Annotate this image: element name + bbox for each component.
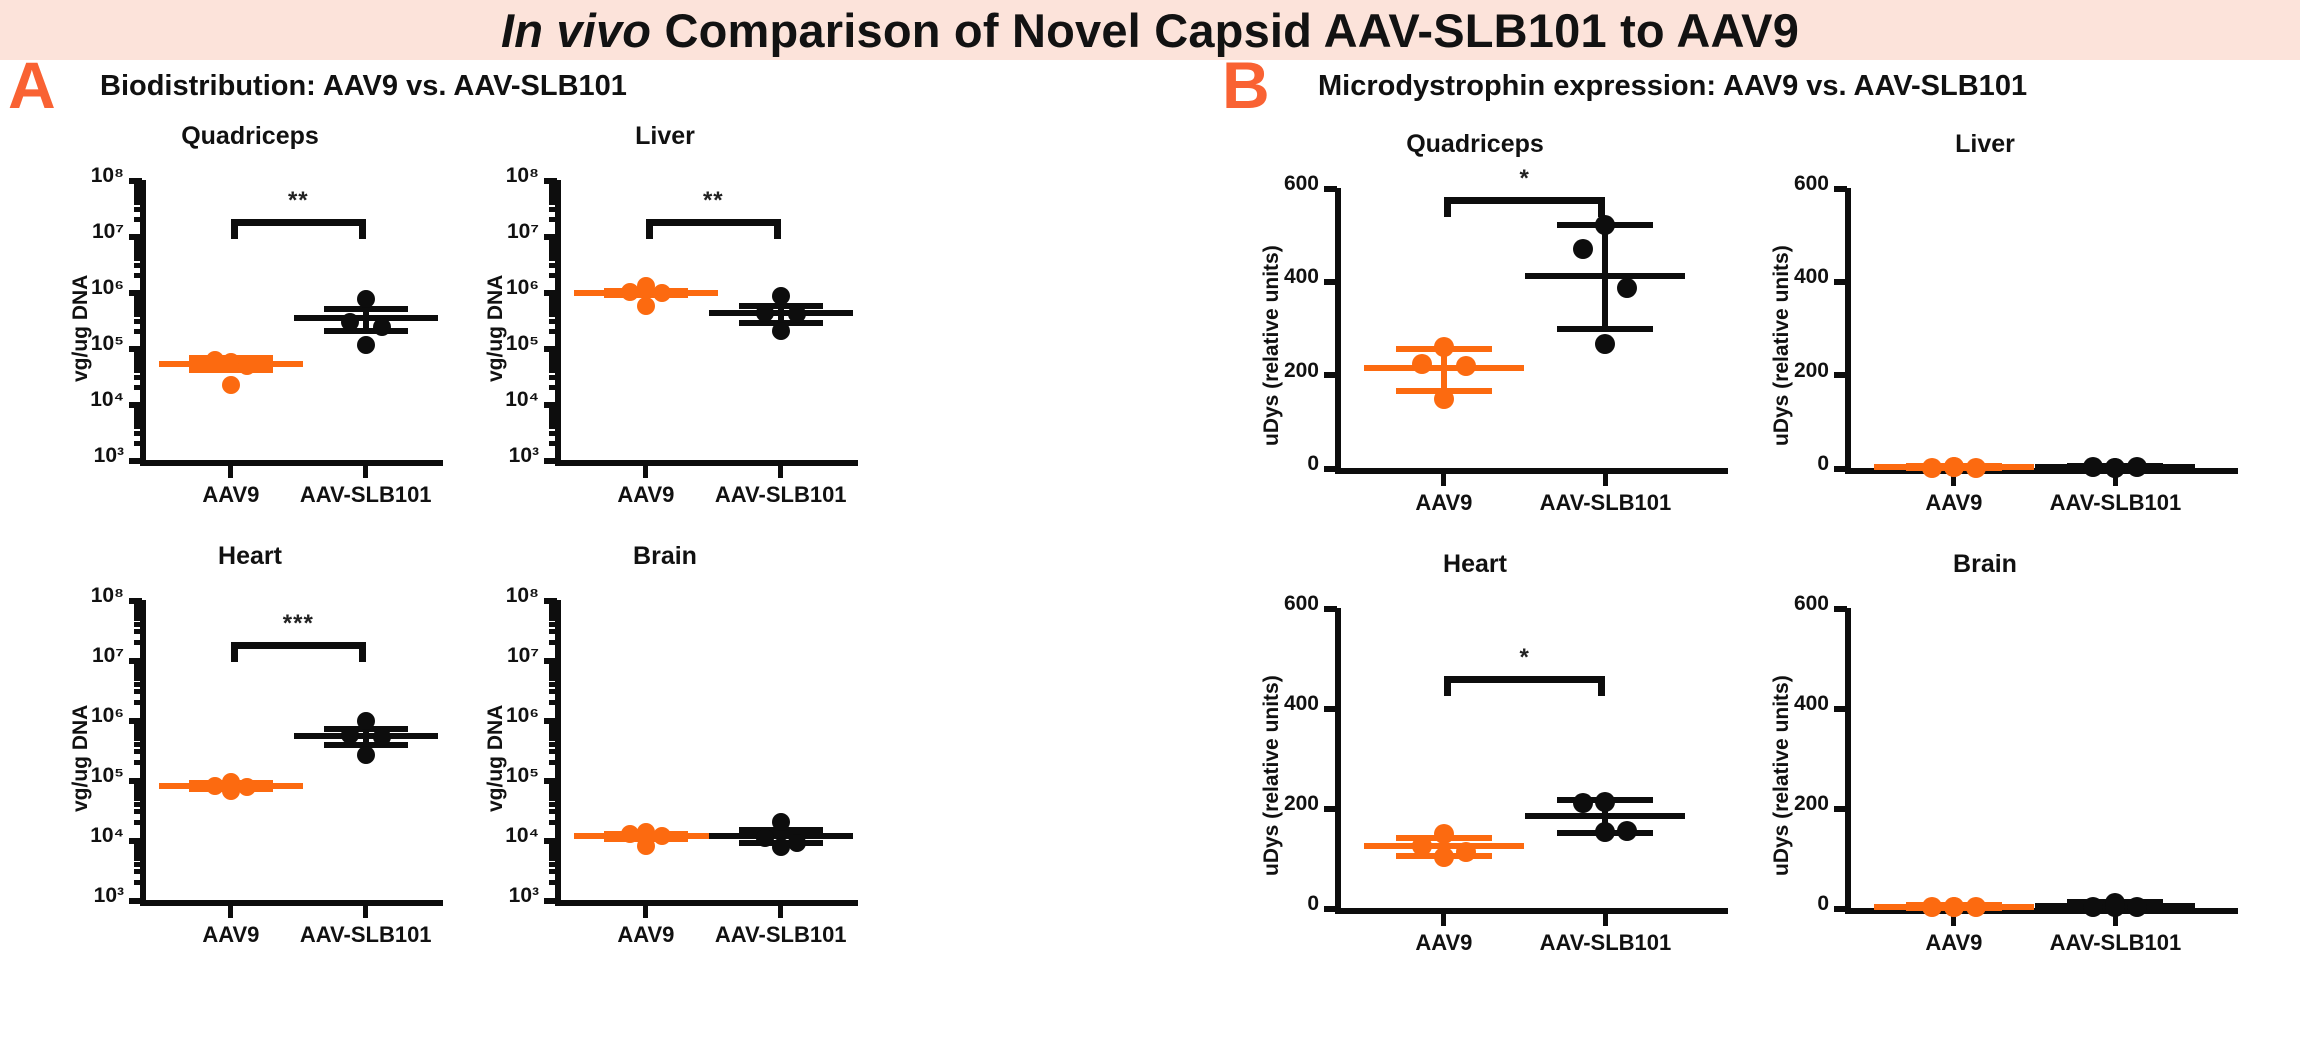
y-tick-label-a-brain-3: 10⁶ — [450, 704, 539, 728]
x-tick-label-b-brain-1: AAV-SLB101 — [2005, 930, 2225, 956]
data-point-b-liver-0-2 — [1966, 458, 1986, 478]
data-point-b-brain-1-3 — [2105, 897, 2125, 917]
data-point-a-brain-1-3 — [772, 838, 790, 856]
x-tick-label-a-brain-1: AAV-SLB101 — [671, 922, 891, 948]
plot-a-quadriceps: Quadricepsvg/ug DNA10³10⁴10⁵10⁶10⁷10⁸AAV… — [35, 122, 465, 542]
data-point-b-brain-1-2 — [2127, 897, 2147, 917]
plot-title-b-liver: Liver — [1740, 130, 2230, 159]
y-tick-label-b-liver-0: 0 — [1740, 452, 1829, 476]
data-point-b-brain-1-1 — [2083, 897, 2103, 917]
data-point-a-brain-1-2 — [788, 834, 806, 852]
y-tick-major-b-brain-3 — [1834, 606, 1847, 612]
y-tick-minor-a-brain — [549, 661, 557, 666]
plot-a-liver: Livervg/ug DNA10³10⁴10⁵10⁶10⁷10⁸AAV9AAV-… — [450, 122, 880, 542]
y-tick-minor-a-brain — [549, 796, 557, 801]
x-axis-spine-a-brain — [555, 900, 858, 906]
figure-title-italic: In vivo — [501, 4, 651, 57]
y-tick-minor-a-brain — [549, 700, 557, 705]
y-tick-label-a-brain-4: 10⁷ — [450, 644, 539, 668]
y-tick-minor-a-brain — [549, 809, 557, 814]
data-point-b-brain-0-2 — [1966, 897, 1986, 917]
significance-bracket-tick-a-heart-0 — [231, 642, 238, 662]
panel-b: B Microdystrophin expression: AAV9 vs. A… — [1200, 60, 2300, 122]
y-tick-label-b-brain-3: 600 — [1740, 592, 1829, 616]
significance-bracket-top-b-heart — [1444, 676, 1606, 683]
panel-a: A Biodistribution: AAV9 vs. AAV-SLB101 Q… — [0, 60, 1200, 122]
data-point-b-liver-1-3 — [2105, 458, 2125, 478]
y-tick-minor-a-brain — [549, 689, 557, 694]
data-point-a-brain-0-2 — [653, 827, 671, 845]
y-tick-minor-a-brain — [549, 742, 557, 747]
y-tick-label-b-brain-1: 200 — [1740, 792, 1829, 816]
y-tick-minor-a-brain — [549, 682, 557, 687]
y-tick-major-b-brain-1 — [1834, 806, 1847, 812]
y-tick-label-a-brain-2: 10⁵ — [450, 764, 539, 788]
panel-a-title: Biodistribution: AAV9 vs. AAV-SLB101 — [100, 70, 627, 103]
y-tick-minor-a-brain — [549, 781, 557, 786]
significance-bracket-tick-a-liver-1 — [774, 219, 781, 239]
y-tick-minor-a-brain — [549, 869, 557, 874]
y-tick-minor-a-brain — [549, 676, 557, 681]
plot-b-liver: LiveruDys (relative units)0200400600AAV9… — [1740, 130, 2230, 550]
panel-b-header: B Microdystrophin expression: AAV9 vs. A… — [1200, 60, 2300, 122]
y-tick-major-b-liver-0 — [1834, 466, 1847, 472]
data-point-a-brain-0-1 — [621, 825, 639, 843]
plot-b-heart: HeartuDys (relative units)0200400600AAV9… — [1230, 550, 1720, 990]
y-tick-minor-a-brain — [549, 640, 557, 645]
y-tick-minor-a-brain — [549, 862, 557, 867]
y-tick-minor-a-brain — [549, 749, 557, 754]
y-tick-label-b-liver-1: 200 — [1740, 359, 1829, 383]
significance-bracket-top-a-liver — [646, 219, 781, 226]
significance-bracket-b-heart — [1230, 550, 1720, 990]
figure-title: In vivo Comparison of Novel Capsid AAV-S… — [501, 3, 1799, 58]
significance-bracket-tick-a-liver-0 — [646, 219, 653, 239]
significance-bracket-tick-b-quadriceps-0 — [1444, 197, 1451, 217]
plot-a-heart: Heartvg/ug DNA10³10⁴10⁵10⁶10⁷10⁸AAV9AAV-… — [35, 542, 465, 982]
significance-bracket-top-a-heart — [231, 642, 366, 649]
y-tick-major-a-brain-0 — [544, 898, 557, 904]
data-point-b-brain-0-3 — [1944, 897, 1964, 917]
y-tick-minor-a-brain — [549, 820, 557, 825]
significance-label-a-liver: ** — [546, 187, 881, 215]
y-tick-minor-a-brain — [549, 856, 557, 861]
panels-container: A Biodistribution: AAV9 vs. AAV-SLB101 Q… — [0, 60, 2300, 1064]
y-tick-minor-a-brain — [549, 601, 557, 606]
y-tick-major-b-liver-1 — [1834, 372, 1847, 378]
y-tick-major-b-liver-2 — [1834, 279, 1847, 285]
panel-b-title: Microdystrophin expression: AAV9 vs. AAV… — [1318, 70, 2027, 103]
data-point-b-liver-1-2 — [2127, 457, 2147, 477]
plot-title-a-brain: Brain — [450, 542, 880, 571]
significance-bracket-a-quadriceps — [35, 122, 465, 542]
y-tick-minor-a-brain — [549, 622, 557, 627]
plot-b-quadriceps: QuadricepsuDys (relative units)020040060… — [1230, 130, 1720, 550]
y-tick-label-b-brain-0: 0 — [1740, 892, 1829, 916]
y-tick-label-b-liver-3: 600 — [1740, 172, 1829, 196]
data-point-a-brain-0-3 — [637, 837, 655, 855]
plot-b-brain: BrainuDys (relative units)0200400600AAV9… — [1740, 550, 2230, 990]
significance-label-b-quadriceps: * — [1344, 165, 1706, 193]
significance-bracket-top-a-quadriceps — [231, 219, 366, 226]
x-tick-a-brain-0 — [643, 905, 648, 918]
y-tick-minor-a-brain — [549, 802, 557, 807]
y-tick-label-b-brain-2: 400 — [1740, 692, 1829, 716]
x-tick-a-brain-1 — [778, 905, 783, 918]
y-axis-spine-b-brain — [1845, 608, 1851, 911]
y-tick-minor-a-brain — [549, 721, 557, 726]
data-point-a-brain-1-0 — [772, 813, 790, 831]
y-tick-label-b-liver-2: 400 — [1740, 265, 1829, 289]
y-tick-minor-a-brain — [549, 736, 557, 741]
plot-title-b-brain: Brain — [1740, 550, 2230, 579]
panel-a-letter: A — [8, 52, 56, 118]
y-axis-spine-b-liver — [1845, 188, 1851, 471]
plot-a-brain: Brainvg/ug DNA10³10⁴10⁵10⁶10⁷10⁸AAV9AAV-… — [450, 542, 880, 982]
data-point-a-brain-1-1 — [756, 829, 774, 847]
y-tick-major-b-brain-0 — [1834, 906, 1847, 912]
significance-bracket-a-heart — [35, 542, 465, 982]
significance-label-b-heart: * — [1344, 644, 1706, 672]
significance-label-a-quadriceps: ** — [131, 187, 466, 215]
significance-bracket-tick-b-heart-0 — [1444, 676, 1451, 696]
x-tick-label-b-liver-1: AAV-SLB101 — [2005, 490, 2225, 516]
y-tick-minor-a-brain — [549, 760, 557, 765]
significance-bracket-tick-a-quadriceps-0 — [231, 219, 238, 239]
significance-bracket-top-b-quadriceps — [1444, 197, 1606, 204]
data-point-b-brain-0-1 — [1922, 897, 1942, 917]
panel-b-letter: B — [1222, 52, 1270, 118]
y-tick-minor-a-brain — [549, 841, 557, 846]
significance-bracket-tick-a-heart-1 — [359, 642, 366, 662]
y-tick-major-b-brain-2 — [1834, 706, 1847, 712]
panel-a-header: A Biodistribution: AAV9 vs. AAV-SLB101 — [0, 60, 1200, 122]
y-tick-label-a-brain-1: 10⁴ — [450, 824, 539, 848]
significance-bracket-tick-a-quadriceps-1 — [359, 219, 366, 239]
significance-bracket-tick-b-quadriceps-1 — [1598, 197, 1605, 217]
data-point-b-liver-0-1 — [1922, 458, 1942, 478]
data-point-b-liver-1-1 — [2083, 457, 2103, 477]
y-tick-label-a-brain-5: 10⁸ — [450, 584, 539, 608]
y-tick-minor-a-brain — [549, 616, 557, 621]
data-point-b-liver-0-3 — [1944, 457, 1964, 477]
figure-header-band: In vivo Comparison of Novel Capsid AAV-S… — [0, 0, 2300, 60]
significance-bracket-tick-b-heart-1 — [1598, 676, 1605, 696]
significance-label-a-heart: *** — [131, 610, 466, 638]
significance-bracket-a-liver — [450, 122, 880, 542]
y-tick-minor-a-brain — [549, 629, 557, 634]
y-tick-major-b-liver-3 — [1834, 186, 1847, 192]
y-tick-minor-a-brain — [549, 880, 557, 885]
y-tick-label-a-brain-0: 10³ — [450, 884, 539, 908]
